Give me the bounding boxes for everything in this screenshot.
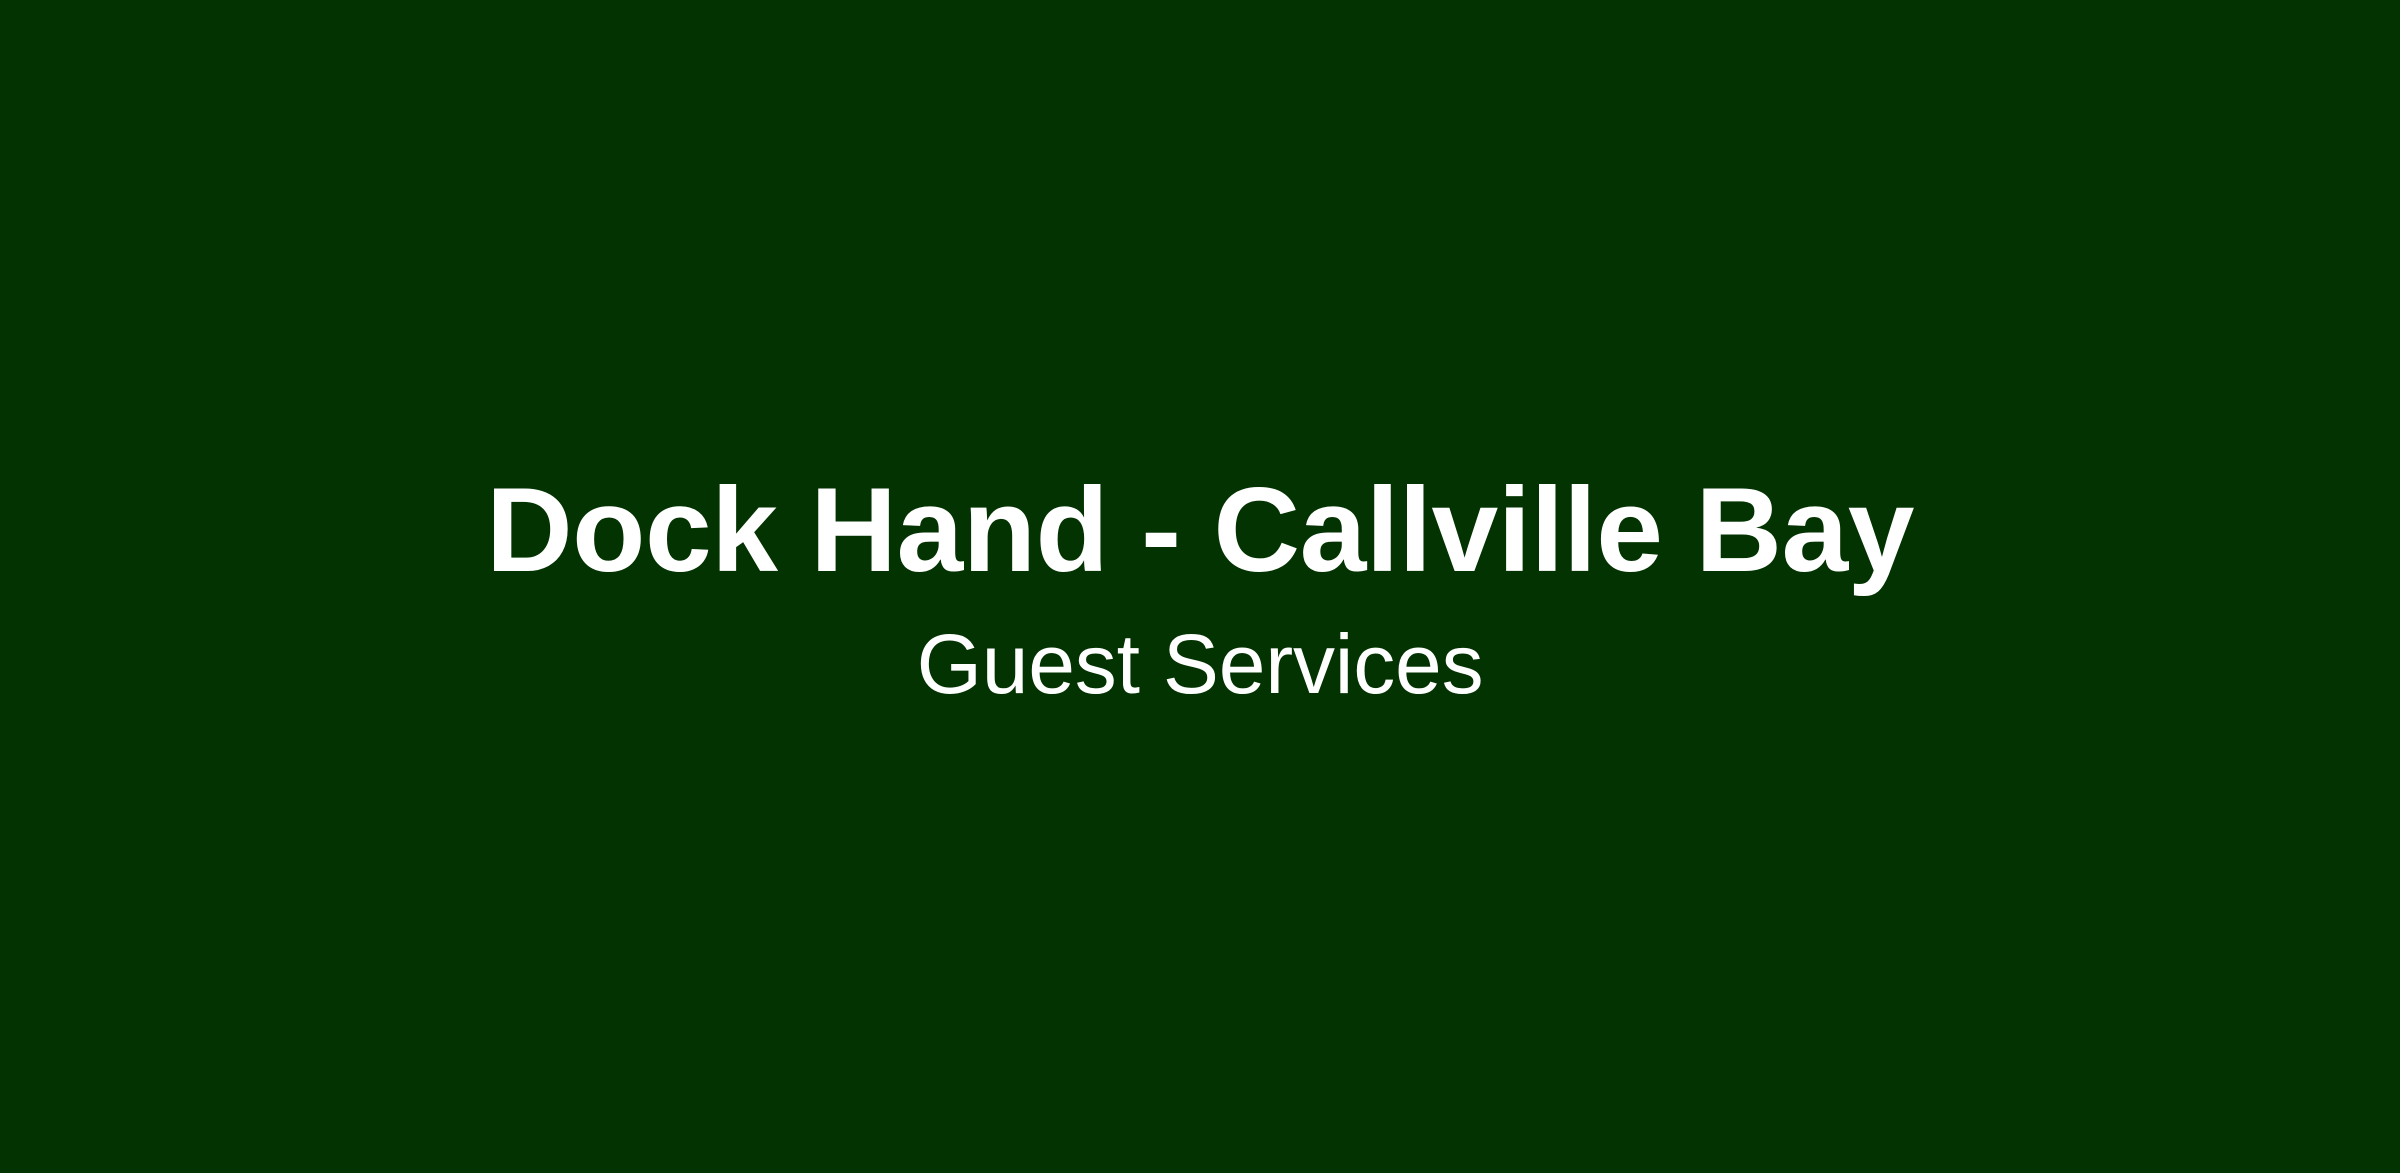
page-title: Dock Hand - Callville Bay <box>486 470 1914 590</box>
page-subtitle: Guest Services <box>917 622 1484 706</box>
title-text-block: Dock Hand - Callville Bay Guest Services <box>0 470 2400 706</box>
title-card: Dock Hand - Callville Bay Guest Services <box>0 0 2400 1173</box>
